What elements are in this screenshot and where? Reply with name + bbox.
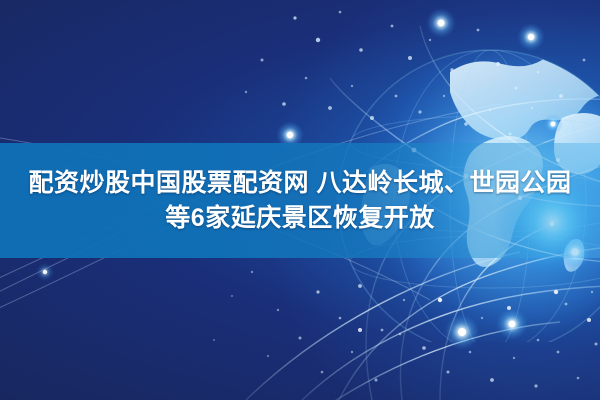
- banner-image: 配资炒股中国股票配资网 八达岭长城、世园公园 等6家延庆景区恢复开放: [0, 0, 600, 400]
- headline-line-1: 配资炒股中国股票配资网 八达岭长城、世园公园: [29, 166, 572, 201]
- headline-line-2: 等6家延庆景区恢复开放: [165, 201, 434, 236]
- glow-node-core: [43, 270, 47, 274]
- headline-overlay-band: 配资炒股中国股票配资网 八达岭长城、世园公园 等6家延庆景区恢复开放: [0, 143, 600, 258]
